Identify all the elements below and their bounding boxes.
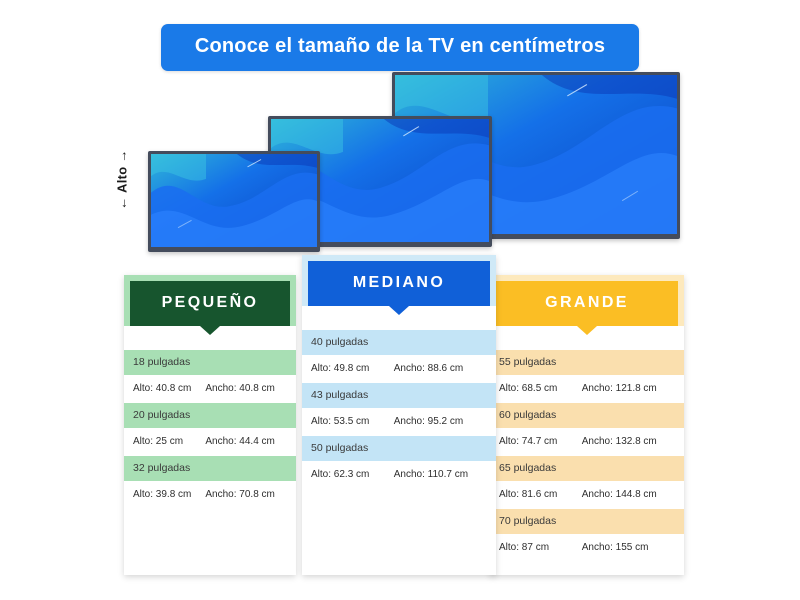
- cell-ancho: Ancho: 70.8 cm: [205, 489, 287, 500]
- cell-ancho: Ancho: 121.8 cm: [582, 383, 675, 394]
- table-row-size: 55 pulgadas: [490, 350, 684, 375]
- table-row: Alto: 49.8 cm Ancho: 88.6 cm: [302, 355, 496, 383]
- card-mediano-badge: MEDIANO: [308, 261, 490, 306]
- cell-ancho: Ancho: 40.8 cm: [205, 383, 287, 394]
- card-pequeno[interactable]: PEQUEÑO 18 pulgadas Alto: 40.8 cm Ancho:…: [124, 275, 296, 575]
- title-banner: Conoce el tamaño de la TV en centímetros: [161, 24, 639, 71]
- table-row-size: 50 pulgadas: [302, 436, 496, 461]
- cell-alto: Alto: 39.8 cm: [133, 489, 205, 500]
- cell-ancho: Ancho: 88.6 cm: [394, 363, 487, 374]
- table-row: Alto: 40.8 cm Ancho: 40.8 cm: [124, 375, 296, 403]
- table-row: Alto: 87 cm Ancho: 155 cm: [490, 534, 684, 562]
- chevron-down-icon: [200, 326, 220, 335]
- cell-alto: Alto: 87 cm: [499, 542, 582, 553]
- card-grande-title: GRANDE: [545, 294, 629, 311]
- table-row: Alto: 62.3 cm Ancho: 110.7 cm: [302, 461, 496, 489]
- table-row-size: 18 pulgadas: [124, 350, 296, 375]
- card-mediano-title: MEDIANO: [353, 274, 445, 291]
- title-banner-wrap: Conoce el tamaño de la TV en centímetros: [0, 24, 800, 71]
- size-cards-container: PEQUEÑO 18 pulgadas Alto: 40.8 cm Ancho:…: [0, 255, 800, 585]
- alto-label-text: ← Alto →: [115, 149, 130, 209]
- table-row: Alto: 53.5 cm Ancho: 95.2 cm: [302, 408, 496, 436]
- cell-ancho: Ancho: 155 cm: [582, 542, 675, 553]
- alto-dimension-label: ← Alto →: [112, 146, 132, 212]
- cell-alto: Alto: 53.5 cm: [311, 416, 394, 427]
- card-grande[interactable]: GRANDE 55 pulgadas Alto: 68.5 cm Ancho: …: [490, 275, 684, 575]
- table-row-size: 20 pulgadas: [124, 403, 296, 428]
- card-pequeno-header: PEQUEÑO: [124, 275, 296, 326]
- table-row-size: 43 pulgadas: [302, 383, 496, 408]
- cell-ancho: Ancho: 44.4 cm: [205, 436, 287, 447]
- tv-small: [148, 151, 320, 252]
- table-row-size: 60 pulgadas: [490, 403, 684, 428]
- table-row: Alto: 25 cm Ancho: 44.4 cm: [124, 428, 296, 456]
- table-row-size: 40 pulgadas: [302, 330, 496, 355]
- card-grande-badge: GRANDE: [496, 281, 678, 326]
- cell-alto: Alto: 25 cm: [133, 436, 205, 447]
- card-pequeno-badge: PEQUEÑO: [130, 281, 290, 326]
- table-row-size: 70 pulgadas: [490, 509, 684, 534]
- table-row: Alto: 39.8 cm Ancho: 70.8 cm: [124, 481, 296, 509]
- chevron-down-icon: [389, 306, 409, 315]
- cell-alto: Alto: 49.8 cm: [311, 363, 394, 374]
- cell-ancho: Ancho: 110.7 cm: [394, 469, 487, 480]
- cell-ancho: Ancho: 132.8 cm: [582, 436, 675, 447]
- cell-alto: Alto: 40.8 cm: [133, 383, 205, 394]
- cell-ancho: Ancho: 95.2 cm: [394, 416, 487, 427]
- card-mediano[interactable]: MEDIANO 40 pulgadas Alto: 49.8 cm Ancho:…: [302, 255, 496, 575]
- card-pequeno-title: PEQUEÑO: [162, 294, 259, 311]
- cell-ancho: Ancho: 144.8 cm: [582, 489, 675, 500]
- table-row-size: 65 pulgadas: [490, 456, 684, 481]
- cell-alto: Alto: 81.6 cm: [499, 489, 582, 500]
- tv-small-wallpaper: [151, 154, 317, 247]
- cell-alto: Alto: 74.7 cm: [499, 436, 582, 447]
- table-row: Alto: 74.7 cm Ancho: 132.8 cm: [490, 428, 684, 456]
- table-row: Alto: 81.6 cm Ancho: 144.8 cm: [490, 481, 684, 509]
- chevron-down-icon: [577, 326, 597, 335]
- cell-alto: Alto: 62.3 cm: [311, 469, 394, 480]
- table-row: Alto: 68.5 cm Ancho: 121.8 cm: [490, 375, 684, 403]
- card-mediano-header: MEDIANO: [302, 255, 496, 306]
- table-row-size: 32 pulgadas: [124, 456, 296, 481]
- page-title: Conoce el tamaño de la TV en centímetros: [195, 35, 605, 57]
- tv-small-screen: [151, 154, 317, 247]
- card-grande-header: GRANDE: [490, 275, 684, 326]
- cell-alto: Alto: 68.5 cm: [499, 383, 582, 394]
